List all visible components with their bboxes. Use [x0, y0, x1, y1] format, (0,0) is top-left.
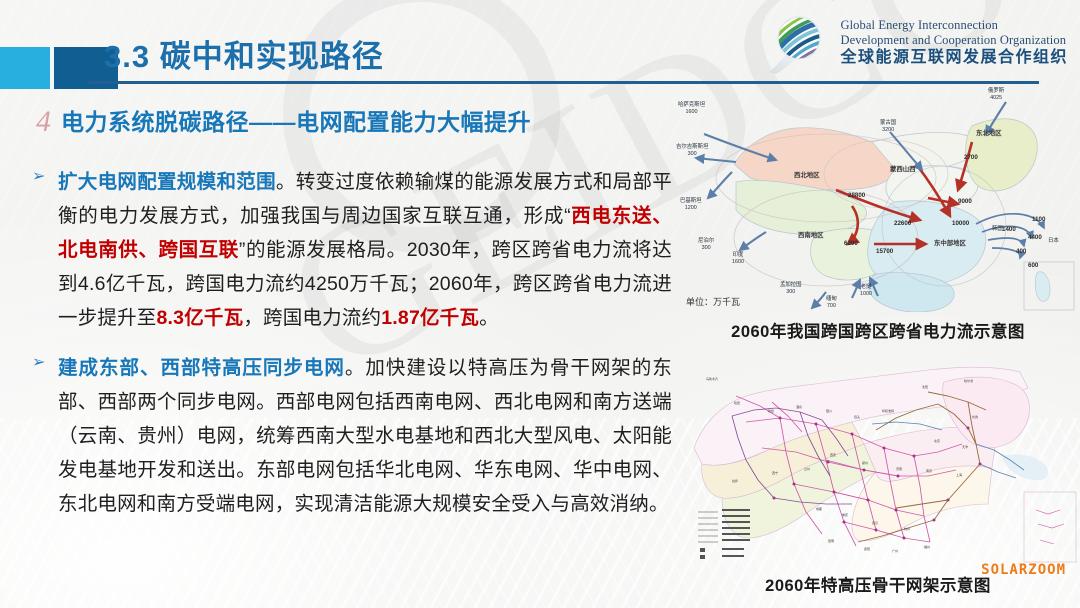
logo-chinese: 全球能源互联网发展合作组织 — [840, 49, 1068, 68]
map-region-mengxi: 蒙西山西 — [890, 164, 916, 173]
svg-text:广州: 广州 — [892, 548, 898, 553]
map-flow-400: 400 — [1016, 248, 1026, 255]
map-region-northeast: 东北地区 — [976, 128, 1002, 137]
svg-text:杭州: 杭州 — [904, 526, 910, 531]
map-flow-15700: 15700 — [876, 248, 893, 255]
figure-power-flow-map: 哈萨克斯坦1600 吉尔吉斯斯坦300 巴基斯坦1200 尼泊尔300 印度16… — [676, 86, 1080, 312]
bullet-lead: 扩大电网配置规模和范围 — [58, 171, 276, 193]
svg-text:南京: 南京 — [926, 468, 932, 473]
section-number: 4 — [36, 107, 51, 137]
svg-text:重庆: 重庆 — [842, 512, 848, 517]
map-flow-22600: 22600 — [894, 220, 911, 227]
map-label-russia: 俄罗斯4025 — [988, 88, 1004, 102]
map-label-bangladesh: 孟加拉国300 — [780, 282, 802, 296]
map-flow-6200: 6200 — [844, 240, 858, 247]
bullet-paragraph: 扩大电网配置规模和范围。转变过度依赖输煤的能源发展方式和局部平衡的电力发展方式，… — [58, 165, 672, 335]
bullet-lead: 建成东部、西部特高压同步电网 — [58, 357, 345, 379]
map-flow-1100: 1100 — [1032, 216, 1045, 223]
seg-3: 8.3亿千瓦 — [157, 307, 244, 329]
logo-text-block: Global Energy Interconnection Developmen… — [840, 18, 1068, 68]
svg-text:西宁: 西宁 — [772, 470, 778, 475]
svg-text:哈尔滨: 哈尔滨 — [964, 378, 973, 383]
svg-text:西安: 西安 — [830, 452, 836, 457]
title-underline — [89, 81, 1039, 84]
svg-text:郑州: 郑州 — [862, 460, 868, 465]
figure-caption-power-flow: 2060年我国跨国跨区跨省电力流示意图 — [676, 318, 1080, 342]
figure-uhv-grid-map: 乌鲁木齐哈密 敦煌酒泉 银川包头 呼和浩特沈阳 哈尔滨长春 北京天津 拉萨西宁 … — [676, 352, 1080, 568]
globe-icon — [765, 10, 831, 76]
map-flow-600: 600 — [1028, 262, 1038, 269]
svg-text:武汉: 武汉 — [872, 520, 878, 525]
svg-text:昆明: 昆明 — [828, 538, 834, 543]
section-title: 电力系统脱碳路径——电网配置能力大幅提升 — [61, 103, 531, 137]
map-label-pakistan: 巴基斯坦1200 — [680, 198, 702, 212]
page-title: 3.3 碳中和实现路径 — [104, 31, 384, 76]
seg-4: ，跨国电力流约 — [243, 307, 381, 329]
map-flow-4400: 4400 — [1028, 234, 1042, 241]
source-watermark: SOLARZOOM — [981, 562, 1066, 578]
svg-text:酒泉: 酒泉 — [796, 404, 802, 409]
bullet-arrow-icon: ➢ — [32, 169, 45, 185]
logo-english-line2: Development and Cooperation Organization — [840, 33, 1068, 48]
map-flow-2700: 2700 — [964, 154, 978, 161]
map-label-laos: 老挝1000 — [860, 284, 872, 298]
bullet-item: ➢ 扩大电网配置规模和范围。转变过度依赖输煤的能源发展方式和局部平衡的电力发展方… — [32, 165, 672, 335]
svg-text:成都: 成都 — [816, 506, 822, 511]
slide-canvas: GEIDCO 3.3 碳中和实现路径 4 电力系统脱碳路径——电网配置能力大幅提… — [0, 0, 1080, 608]
title-tab-cyan — [0, 47, 50, 89]
map-flow-10000: 10000 — [952, 220, 969, 227]
map-region-east-central: 东中部地区 — [934, 238, 966, 247]
svg-text:贵阳: 贵阳 — [864, 546, 870, 551]
map-region-southwest: 西南地区 — [798, 230, 824, 239]
map-flow-9000: 9000 — [958, 198, 972, 205]
svg-text:天津: 天津 — [962, 444, 968, 449]
svg-text:上海: 上海 — [956, 472, 962, 477]
svg-text:长春: 长春 — [972, 414, 978, 419]
figure-unit-note: 单位：万千瓦 — [686, 295, 740, 308]
svg-text:哈密: 哈密 — [734, 400, 740, 405]
map-label-india: 印度1600 — [732, 252, 744, 266]
svg-text:呼和浩特: 呼和浩特 — [882, 408, 894, 413]
map-label-kazakhstan: 哈萨克斯坦1600 — [678, 102, 705, 116]
map-flow-1400: 1400 — [1002, 226, 1016, 233]
svg-text:兰州: 兰州 — [804, 466, 810, 471]
map-region-northwest: 西北地区 — [794, 170, 820, 179]
seg-5: 1.87亿千瓦 — [381, 307, 479, 329]
svg-text:拉萨: 拉萨 — [732, 478, 738, 483]
organization-logo: Global Energy Interconnection Developmen… — [765, 10, 1068, 76]
svg-text:福州: 福州 — [924, 544, 930, 549]
logo-english-line1: Global Energy Interconnection — [840, 18, 1068, 33]
map-label-japan: 日本 — [1048, 238, 1059, 245]
seg-6: 。 — [479, 307, 499, 329]
svg-text:乌鲁木齐: 乌鲁木齐 — [706, 376, 718, 381]
seg-0: 。加快建设以特高压为骨干网架的东部、西部两个同步电网。西部电网包括西南电网、西北… — [58, 357, 672, 515]
bullet-arrow-icon: ➢ — [32, 355, 45, 371]
svg-text:北京: 北京 — [934, 438, 940, 443]
map-label-mongolia: 蒙古国3200 — [880, 120, 896, 134]
bullet-item: ➢ 建成东部、西部特高压同步电网。加快建设以特高压为骨干网架的东部、西部两个同步… — [32, 351, 672, 521]
svg-text:敦煌: 敦煌 — [768, 408, 774, 413]
body-text-column: ➢ 扩大电网配置规模和范围。转变过度依赖输煤的能源发展方式和局部平衡的电力发展方… — [32, 165, 672, 537]
map-flow-28800: 28800 — [848, 192, 865, 199]
map-label-nepal: 尼泊尔300 — [698, 238, 714, 252]
svg-text:包头: 包头 — [854, 414, 860, 419]
map-label-kyrgyzstan: 吉尔吉斯斯坦300 — [676, 144, 708, 158]
svg-text:银川: 银川 — [826, 408, 832, 413]
svg-text:沈阳: 沈阳 — [922, 384, 928, 389]
map-label-myanmar: 缅甸700 — [826, 296, 837, 310]
section-heading: 4 电力系统脱碳路径——电网配置能力大幅提升 — [36, 103, 531, 137]
bullet-paragraph: 建成东部、西部特高压同步电网。加快建设以特高压为骨干网架的东部、西部两个同步电网… — [58, 351, 672, 521]
svg-text:济南: 济南 — [896, 466, 902, 471]
